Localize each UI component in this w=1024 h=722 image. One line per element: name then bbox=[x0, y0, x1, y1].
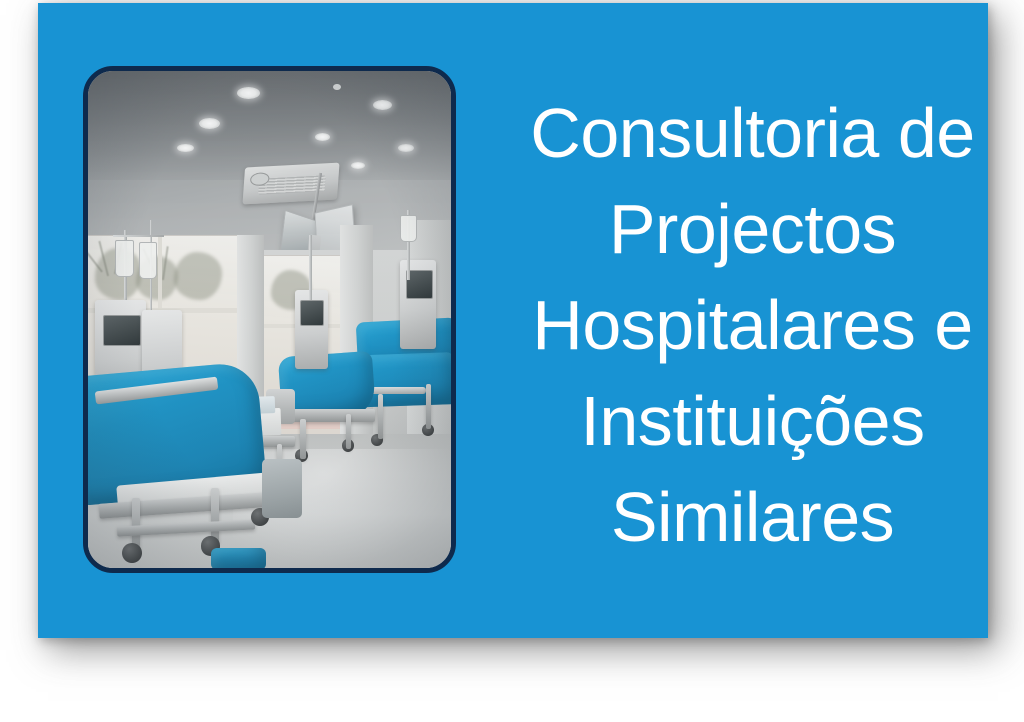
iv-bag bbox=[400, 215, 417, 242]
downlight-icon bbox=[315, 133, 330, 141]
bed-leg bbox=[346, 414, 351, 449]
hospital-photo-frame bbox=[83, 66, 456, 573]
downlight-icon bbox=[199, 118, 220, 129]
iv-pole-crossbar bbox=[113, 235, 164, 237]
air-conditioner-unit bbox=[243, 163, 340, 205]
title-line-5: Similares bbox=[500, 469, 1005, 565]
machine-screen bbox=[103, 315, 141, 347]
title-line-4: Instituições bbox=[500, 373, 1005, 469]
surgical-mask bbox=[88, 71, 90, 73]
title-line-1: Consultoria de bbox=[500, 85, 1005, 181]
hospital-photo bbox=[88, 71, 451, 568]
page-title: Consultoria de Projectos Hospitalares e … bbox=[500, 85, 1005, 565]
bed-leg bbox=[300, 419, 305, 459]
blue-content-panel: Consultoria de Projectos Hospitalares e … bbox=[38, 3, 988, 638]
bed-headboard bbox=[262, 459, 302, 519]
bed-leg bbox=[426, 384, 431, 429]
tree-foliage bbox=[174, 252, 222, 300]
title-line-3: Hospitalares e bbox=[500, 277, 1005, 373]
iv-bag bbox=[139, 242, 157, 279]
iv-bag bbox=[115, 240, 133, 277]
iv-pole bbox=[309, 235, 312, 300]
slide-canvas: Consultoria de Projectos Hospitalares e … bbox=[0, 0, 1024, 722]
title-line-2: Projectos bbox=[500, 181, 1005, 277]
downlight-icon bbox=[373, 100, 392, 110]
ceiling-shadow bbox=[88, 71, 451, 180]
machine-screen bbox=[300, 300, 324, 327]
downlight-icon bbox=[237, 87, 260, 99]
bed-leg bbox=[211, 488, 219, 543]
bed-leg bbox=[378, 394, 383, 439]
floor-linen bbox=[211, 548, 265, 568]
downlight-icon bbox=[398, 144, 414, 152]
